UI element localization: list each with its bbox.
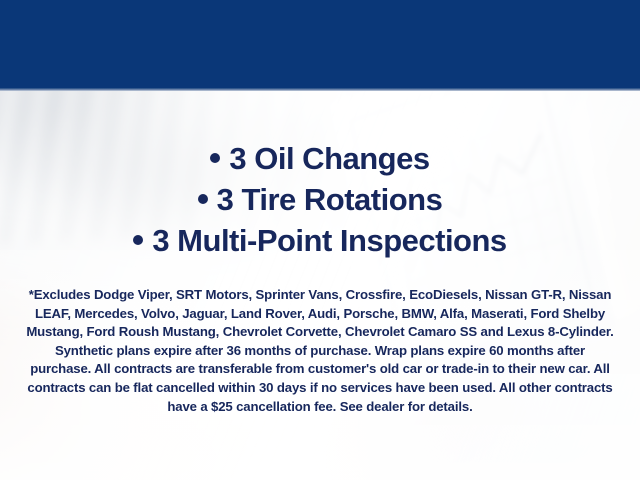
benefits-list: 3 Oil Changes 3 Tire Rotations 3 Multi-P… <box>0 138 640 261</box>
bullet-dot-icon <box>133 235 143 245</box>
disclaimer-text: *Excludes Dodge Viper, SRT Motors, Sprin… <box>24 286 616 416</box>
list-item: 3 Oil Changes <box>0 138 640 179</box>
bullet-dot-icon <box>198 194 208 204</box>
disclaimer-body: *Excludes Dodge Viper, SRT Motors, Sprin… <box>24 286 616 416</box>
benefit-label: 3 Tire Rotations <box>217 182 443 217</box>
header-bar <box>0 0 640 88</box>
extracare-package-promo: ExtraCare Package* 3 Oil Changes 3 Tire … <box>0 0 640 480</box>
benefit-label: 3 Multi-Point Inspections <box>152 223 506 258</box>
list-item: 3 Tire Rotations <box>0 179 640 220</box>
benefit-label: 3 Oil Changes <box>229 141 429 176</box>
header-underline-divider <box>0 88 640 91</box>
list-item: 3 Multi-Point Inspections <box>0 220 640 261</box>
bullet-dot-icon <box>210 153 220 163</box>
